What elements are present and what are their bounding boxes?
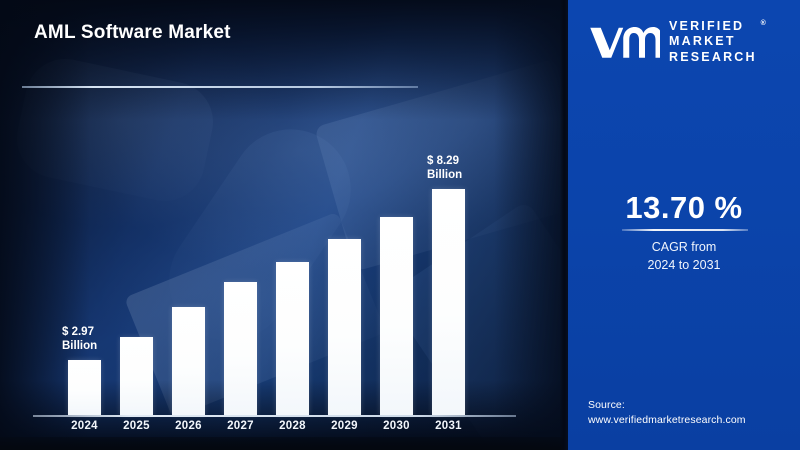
source-url[interactable]: www.verifiedmarketresearch.com <box>588 413 798 428</box>
bar-2028 <box>276 262 309 415</box>
cagr-divider <box>622 229 748 231</box>
vmr-logo-mark-icon <box>588 22 660 62</box>
bar-chart: 20242025202620272028202920302031 <box>0 0 564 450</box>
x-axis-label-2024: 2024 <box>59 420 111 432</box>
x-axis-label-2028: 2028 <box>267 420 319 432</box>
bar-2027 <box>224 282 257 415</box>
cagr-value: 13.70 % <box>568 190 800 226</box>
cagr-caption-line2: 2024 to 2031 <box>568 256 800 274</box>
logo-line-verified: VERIFIED <box>669 19 757 35</box>
cagr-caption: CAGR from 2024 to 2031 <box>568 238 800 274</box>
x-axis-label-2030: 2030 <box>371 420 423 432</box>
bottom-edge-band <box>0 437 564 450</box>
x-axis-label-2027: 2027 <box>215 420 267 432</box>
value-label-2031-amount: $ 8.29 <box>427 154 462 168</box>
value-label-2024: $ 2.97 Billion <box>62 325 97 353</box>
source-block: Source: www.verifiedmarketresearch.com <box>588 398 798 428</box>
bar-2031 <box>432 189 465 415</box>
panel-separator <box>560 0 568 450</box>
logo-line-research: RESEARCH <box>669 50 757 66</box>
vmr-logo-wordmark: VERIFIED MARKET RESEARCH ® <box>669 19 757 66</box>
source-label: Source: <box>588 398 798 413</box>
bar-2029 <box>328 239 361 415</box>
vmr-logo[interactable]: VERIFIED MARKET RESEARCH ® <box>588 16 784 68</box>
cagr-caption-line1: CAGR from <box>568 238 800 256</box>
bar-2025 <box>120 337 153 415</box>
x-axis-label-2026: 2026 <box>163 420 215 432</box>
x-axis-line <box>33 415 516 417</box>
bar-2024 <box>68 360 101 415</box>
value-label-2031: $ 8.29 Billion <box>427 154 462 182</box>
value-label-2024-amount: $ 2.97 <box>62 325 97 339</box>
value-label-2031-unit: Billion <box>427 168 462 182</box>
logo-line-market: MARKET <box>669 34 757 50</box>
x-axis-label-2025: 2025 <box>111 420 163 432</box>
x-axis-label-2029: 2029 <box>319 420 371 432</box>
value-label-2024-unit: Billion <box>62 339 97 353</box>
bar-2026 <box>172 307 205 415</box>
bar-2030 <box>380 217 413 415</box>
brand-panel: VERIFIED MARKET RESEARCH ® 13.70 % CAGR … <box>568 0 800 450</box>
chart-panel: AML Software Market 20242025202620272028… <box>0 0 564 450</box>
x-axis-label-2031: 2031 <box>423 420 475 432</box>
infographic-canvas: AML Software Market 20242025202620272028… <box>0 0 800 450</box>
registered-trademark-icon: ® <box>761 16 766 32</box>
